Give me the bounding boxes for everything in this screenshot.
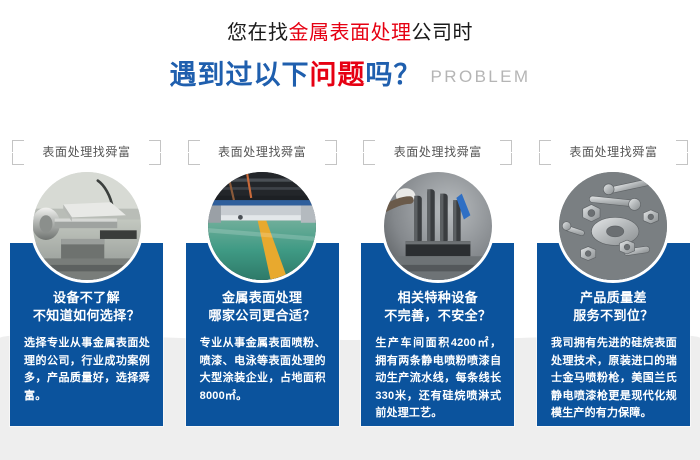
card-badge: 表面处理找舜富 — [12, 139, 161, 165]
problem-card[interactable]: 表面处理找舜富 金属表面处理 哪家公司更合适？ 专业从事金属表面喷粉、喷漆、电泳… — [186, 139, 339, 429]
heading-line-1: 您在找金属表面处理公司时 — [0, 18, 700, 48]
card-photo-equipment — [381, 169, 495, 283]
problem-card[interactable]: 表面处理找舜富 设备不了解 不知道如何选择？ 选择专业从事金属表面处理的公司，行… — [10, 139, 163, 429]
heading-line2-highlight: 问题 — [310, 60, 366, 90]
heading-line2-prefix: 遇到过以下 — [170, 60, 310, 90]
card-photo-lathe — [30, 169, 144, 283]
card-badge-label: 表面处理找舜富 — [12, 142, 161, 162]
factory-workshop-photo — [208, 172, 316, 280]
card-badge: 表面处理找舜富 — [188, 139, 337, 165]
heading-line-2: 遇到过以下问题吗？PROBLEM — [0, 57, 700, 95]
problem-card[interactable]: 表面处理找舜富 产品质量差 服务不到位？ 我司拥有先进的硅烷表面处理技术，原装进… — [537, 139, 690, 429]
card-title-line-2: 不知道如何选择？ — [14, 307, 159, 325]
card-title-line-2: 服务不到位？ — [541, 307, 686, 325]
card-photo-fasteners — [556, 169, 670, 283]
heading-english-subtitle: PROBLEM — [431, 67, 531, 86]
page-heading: 您在找金属表面处理公司时 遇到过以下问题吗？PROBLEM — [0, 18, 700, 95]
card-title: 相关特种设备 不完善，不安全？ — [365, 289, 510, 325]
card-title: 金属表面处理 哪家公司更合适？ — [190, 289, 335, 325]
card-body-text: 专业从事金属表面喷粉、喷漆、电泳等表面处理的大型涂装企业，占地面积8000㎡。 — [200, 335, 326, 405]
card-body-text: 生产车间面积4200㎡，拥有两条静电喷粉喷漆自动生产流水线，每条线长330米，还… — [375, 335, 501, 423]
card-title-line-2: 哪家公司更合适？ — [190, 307, 335, 325]
card-title-line-2: 不完善，不安全？ — [365, 307, 510, 325]
lathe-machining-photo — [33, 172, 141, 280]
card-title-line-1: 产品质量差 — [541, 289, 686, 307]
card-title-line-1: 设备不了解 — [14, 289, 159, 307]
heading-line2-suffix: 吗？ — [366, 60, 422, 90]
card-title-line-1: 金属表面处理 — [190, 289, 335, 307]
card-title-line-1: 相关特种设备 — [365, 289, 510, 307]
card-badge-label: 表面处理找舜富 — [539, 142, 688, 162]
metal-fasteners-photo — [559, 172, 667, 280]
heading-line1-prefix: 您在找 — [227, 22, 289, 44]
problem-card-row: 表面处理找舜富 设备不了解 不知道如何选择？ 选择专业从事金属表面处理的公司，行… — [10, 139, 690, 429]
card-title: 设备不了解 不知道如何选择？ — [14, 289, 159, 325]
card-body-text: 选择专业从事金属表面处理的公司，行业成功案例多，产品质量好，选择舜富。 — [24, 335, 150, 405]
card-badge: 表面处理找舜富 — [363, 139, 512, 165]
card-photo-workshop — [205, 169, 319, 283]
card-badge-label: 表面处理找舜富 — [363, 142, 512, 162]
heading-line1-highlight: 金属表面处理 — [289, 22, 412, 44]
card-body-text: 我司拥有先进的硅烷表面处理技术，原装进口的瑞士金马喷粉枪，美国兰氏静电喷漆枪更是… — [551, 335, 677, 423]
card-badge: 表面处理找舜富 — [539, 139, 688, 165]
heading-line1-suffix: 公司时 — [412, 22, 474, 44]
coating-equipment-photo — [384, 172, 492, 280]
problem-card[interactable]: 表面处理找舜富 相关特种设备 不完善，不安全？ 生产车间面积4200㎡，拥有两条… — [361, 139, 514, 429]
card-title: 产品质量差 服务不到位？ — [541, 289, 686, 325]
card-badge-label: 表面处理找舜富 — [188, 142, 337, 162]
